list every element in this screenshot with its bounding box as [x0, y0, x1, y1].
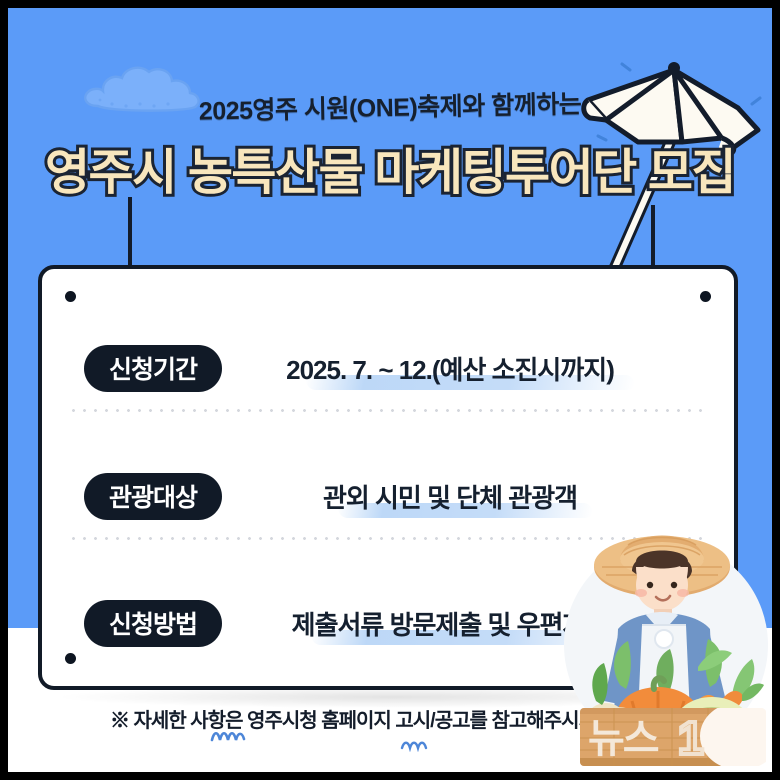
- info-row: 신청기간 2025. 7. ~ 12.(예산 소진시까지): [42, 339, 734, 397]
- info-row-value: 관외 시민 및 단체 관광객: [323, 478, 577, 515]
- frame-bottom-border: [0, 772, 780, 780]
- info-row-label: 관광대상: [84, 473, 222, 520]
- poster-canvas: 2025영주 시원(ONE)축제와 함께하는 영주시 농특산물 마케팅투어단 모…: [0, 0, 780, 780]
- row-divider: [68, 409, 708, 412]
- hanging-string-right: [651, 205, 655, 272]
- squiggle-doodle-icon: [400, 738, 438, 757]
- info-row-value: 2025. 7. ~ 12.(예산 소진시까지): [286, 350, 614, 387]
- frame-top-border: [0, 0, 780, 8]
- svg-text:뉴스: 뉴스: [588, 717, 659, 761]
- svg-text:1: 1: [678, 712, 704, 764]
- watermark-news1: 뉴스 1: [580, 708, 766, 766]
- info-row-value: 제출서류 방문제출 및 우편제출: [292, 605, 609, 642]
- hanging-string-left: [128, 197, 132, 272]
- poster-title: 영주시 농특산물 마케팅투어단 모집: [0, 133, 780, 204]
- frame-left-border: [0, 0, 8, 780]
- info-row-value-wrap: 2025. 7. ~ 12.(예산 소진시까지): [222, 350, 734, 387]
- info-row-label: 신청방법: [84, 600, 222, 647]
- info-row-label: 신청기간: [84, 345, 222, 392]
